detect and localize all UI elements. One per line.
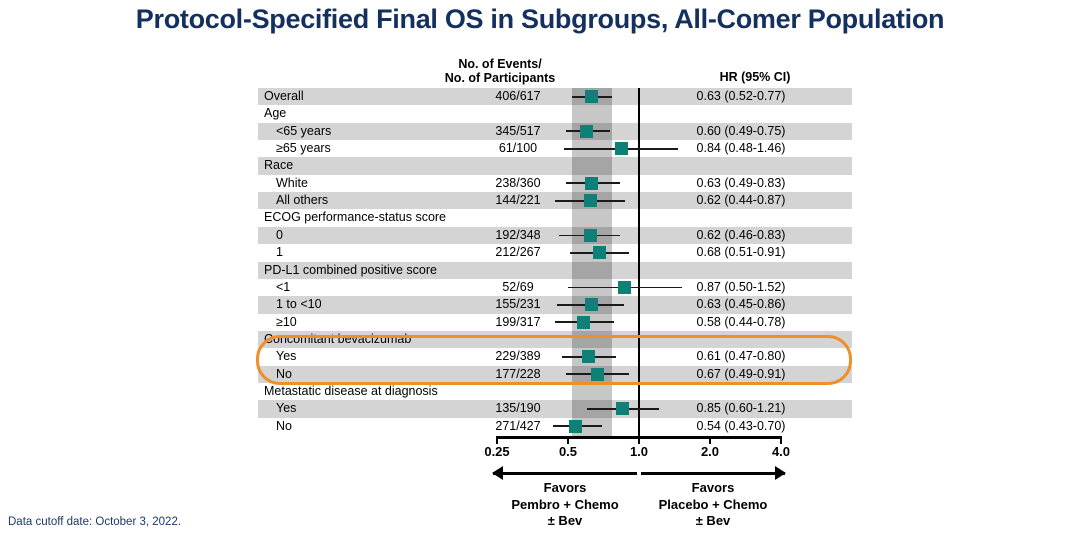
- data-cutoff-note: Data cutoff date: October 3, 2022.: [8, 516, 181, 528]
- table-row: Overall406/6170.63 (0.52-0.77): [258, 88, 852, 105]
- row-label: 1: [276, 245, 283, 260]
- table-row: Yes229/3890.61 (0.47-0.80): [258, 348, 852, 365]
- row-label: 1 to <10: [276, 297, 322, 312]
- row-label: Yes: [276, 349, 296, 364]
- row-label: ≥10: [276, 315, 297, 330]
- subgroup-header-row: PD-L1 combined positive score: [258, 262, 852, 279]
- favors-right-label: FavorsPlacebo + Chemo± Bev: [641, 480, 785, 530]
- row-events-participants: 406/617: [418, 89, 618, 104]
- axis-tick: [709, 436, 711, 444]
- row-events-participants: 345/517: [418, 124, 618, 139]
- row-events-participants: 199/317: [418, 315, 618, 330]
- favors-right-arrow: [641, 466, 785, 480]
- subgroup-header-row: Age: [258, 105, 852, 122]
- row-events-participants: 52/69: [418, 280, 618, 295]
- row-label: Concomitant bevacizumab: [264, 332, 411, 347]
- row-events-participants: 238/360: [418, 176, 618, 191]
- favors-right-label-line: Favors: [641, 480, 785, 497]
- column-header-hr: HR (95% CI): [640, 71, 870, 85]
- row-hr-ci: 0.62 (0.46-0.83): [630, 228, 852, 243]
- axis-tick-label: 4.0: [751, 444, 811, 459]
- table-row: No177/2280.67 (0.49-0.91): [258, 366, 852, 383]
- subgroup-header-row: Metastatic disease at diagnosis: [258, 383, 852, 400]
- arrow-shaft: [641, 472, 785, 475]
- table-row: ≥10199/3170.58 (0.44-0.78): [258, 314, 852, 331]
- axis-tick: [638, 436, 640, 444]
- row-events-participants: 212/267: [418, 245, 618, 260]
- arrow-shaft: [493, 472, 637, 475]
- axis-tick: [780, 436, 782, 444]
- favors-left-label: FavorsPembro + Chemo± Bev: [493, 480, 637, 530]
- subgroup-header-row: ECOG performance-status score: [258, 209, 852, 226]
- row-events-participants: 192/348: [418, 228, 618, 243]
- table-row: White238/3600.63 (0.49-0.83): [258, 175, 852, 192]
- row-label: Race: [264, 158, 293, 173]
- row-hr-ci: 0.63 (0.49-0.83): [630, 176, 852, 191]
- row-hr-ci: 0.62 (0.44-0.87): [630, 193, 852, 208]
- favors-left-label-line: ± Bev: [493, 513, 637, 530]
- subgroup-header-row: Concomitant bevacizumab: [258, 331, 852, 348]
- column-header-events: No. of Events/ No. of Participants: [395, 58, 605, 85]
- row-label: <65 years: [276, 124, 331, 139]
- axis-tick-label: 0.25: [467, 444, 527, 459]
- row-label: No: [276, 367, 292, 382]
- favors-left-arrow: [493, 466, 637, 480]
- x-axis: 0.250.51.02.04.0FavorsPembro + Chemo± Be…: [258, 436, 852, 536]
- row-label: Age: [264, 106, 286, 121]
- table-row: ≥65 years61/1000.84 (0.48-1.46): [258, 140, 852, 157]
- row-hr-ci: 0.60 (0.49-0.75): [630, 124, 852, 139]
- row-label: White: [276, 176, 308, 191]
- row-label: All others: [276, 193, 328, 208]
- favors-right-label-line: ± Bev: [641, 513, 785, 530]
- axis-tick: [567, 436, 569, 444]
- row-label: <1: [276, 280, 290, 295]
- row-label: ECOG performance-status score: [264, 210, 446, 225]
- row-events-participants: 135/190: [418, 401, 618, 416]
- row-label: 0: [276, 228, 283, 243]
- column-header-events-line2: No. of Participants: [395, 72, 605, 86]
- row-hr-ci: 0.63 (0.45-0.86): [630, 297, 852, 312]
- axis-tick-label: 2.0: [680, 444, 740, 459]
- table-row: 1 to <10155/2310.63 (0.45-0.86): [258, 296, 852, 313]
- page-title: Protocol-Specified Final OS in Subgroups…: [0, 4, 1080, 35]
- row-events-participants: 271/427: [418, 419, 618, 434]
- row-label: Overall: [264, 89, 304, 104]
- table-row: 1212/2670.68 (0.51-0.91): [258, 244, 852, 261]
- row-label: PD-L1 combined positive score: [264, 263, 437, 278]
- subgroup-header-row: Race: [258, 157, 852, 174]
- row-hr-ci: 0.54 (0.43-0.70): [630, 419, 852, 434]
- row-label: No: [276, 419, 292, 434]
- row-hr-ci: 0.68 (0.51-0.91): [630, 245, 852, 260]
- table-row: <65 years345/5170.60 (0.49-0.75): [258, 123, 852, 140]
- row-events-participants: 144/221: [418, 193, 618, 208]
- axis-tick-label: 1.0: [609, 444, 669, 459]
- forest-table: Overall406/6170.63 (0.52-0.77)Age<65 yea…: [258, 88, 852, 436]
- row-hr-ci: 0.67 (0.49-0.91): [630, 367, 852, 382]
- row-label: ≥65 years: [276, 141, 331, 156]
- row-label: Metastatic disease at diagnosis: [264, 384, 438, 399]
- table-row: 0192/3480.62 (0.46-0.83): [258, 227, 852, 244]
- favors-left-label-line: Favors: [493, 480, 637, 497]
- row-hr-ci: 0.87 (0.50-1.52): [630, 280, 852, 295]
- axis-tick: [496, 436, 498, 444]
- favors-left-label-line: Pembro + Chemo: [493, 497, 637, 514]
- favors-right-label-line: Placebo + Chemo: [641, 497, 785, 514]
- row-hr-ci: 0.85 (0.60-1.21): [630, 401, 852, 416]
- row-hr-ci: 0.63 (0.52-0.77): [630, 89, 852, 104]
- row-label: Yes: [276, 401, 296, 416]
- row-events-participants: 155/231: [418, 297, 618, 312]
- row-hr-ci: 0.61 (0.47-0.80): [630, 349, 852, 364]
- axis-tick-label: 0.5: [538, 444, 598, 459]
- column-header-events-line1: No. of Events/: [395, 58, 605, 72]
- arrow-head-left-icon: [492, 466, 503, 480]
- row-hr-ci: 0.84 (0.48-1.46): [630, 141, 852, 156]
- table-row: Yes135/1900.85 (0.60-1.21): [258, 400, 852, 417]
- arrow-head-right-icon: [775, 466, 786, 480]
- row-events-participants: 61/100: [418, 141, 618, 156]
- table-row: All others144/2210.62 (0.44-0.87): [258, 192, 852, 209]
- table-row: No271/4270.54 (0.43-0.70): [258, 418, 852, 435]
- table-row: <152/690.87 (0.50-1.52): [258, 279, 852, 296]
- row-events-participants: 229/389: [418, 349, 618, 364]
- row-events-participants: 177/228: [418, 367, 618, 382]
- row-hr-ci: 0.58 (0.44-0.78): [630, 315, 852, 330]
